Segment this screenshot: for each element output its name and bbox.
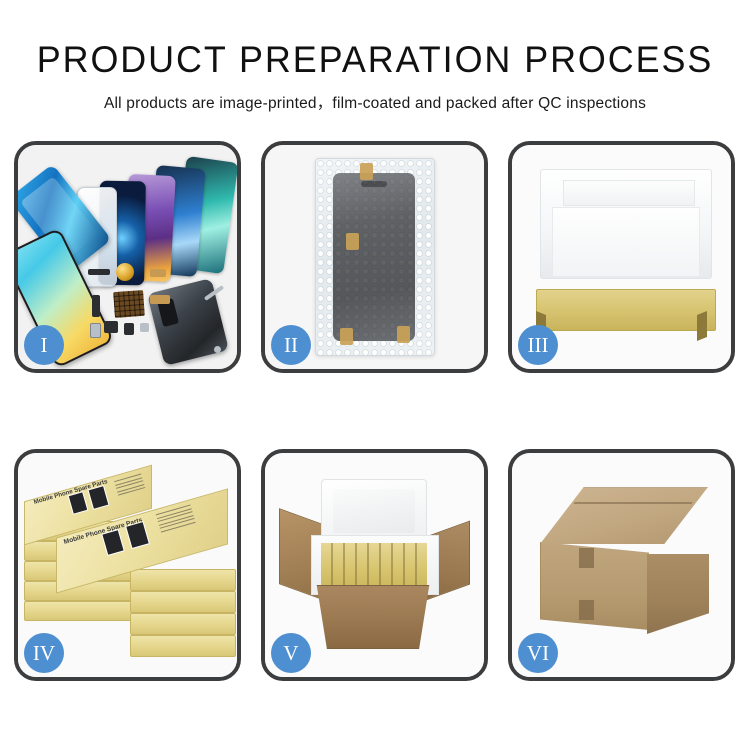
carton-front-face: [540, 542, 649, 630]
carton-tape-lower: [579, 600, 594, 620]
small-part-3: [92, 295, 100, 317]
small-part-8: [90, 323, 101, 338]
stack-box-r4: [130, 635, 236, 657]
process-panel-2[interactable]: II: [261, 141, 488, 373]
panel-3-step-badge: III: [518, 325, 558, 365]
tape-tab-bottom-right: [397, 326, 410, 343]
process-panel-4[interactable]: Mobile Phone Spare Parts Mobile Phone Sp…: [14, 449, 241, 681]
panel-2-step-badge: II: [271, 325, 311, 365]
tape-tab-top: [360, 163, 373, 180]
tape-tab-mid: [346, 233, 359, 250]
white-foam-sheet: [552, 207, 700, 277]
screw-part: [214, 346, 221, 353]
carton-body: [309, 585, 437, 649]
stack-box-r3: [130, 613, 236, 635]
tape-tab-bottom-left: [340, 328, 353, 345]
foam-lid-inner-panel: [563, 180, 695, 206]
panel-4-step-badge: IV: [24, 633, 64, 673]
process-panel-3[interactable]: III: [508, 141, 735, 373]
small-part-5: [104, 321, 118, 333]
small-part-1: [88, 269, 110, 275]
wrapped-part-inside: [333, 173, 415, 341]
small-part-7: [140, 323, 149, 332]
panel-1-step-badge: I: [24, 325, 64, 365]
page-header: PRODUCT PREPARATION PROCESS All products…: [0, 0, 750, 113]
panel-6-step-badge: VI: [518, 633, 558, 673]
process-panel-6[interactable]: VI: [508, 449, 735, 681]
yellow-box-tray: [536, 289, 716, 331]
connector-grid-chip: [113, 290, 145, 318]
yellow-boxes-inside: [321, 543, 427, 585]
page-subtitle: All products are image-printed，film-coat…: [0, 91, 750, 113]
gold-component: [116, 263, 134, 281]
sealed-carton: [530, 487, 718, 639]
carton-tape-upper: [579, 548, 594, 568]
small-part-4: [150, 295, 170, 304]
process-panel-1[interactable]: I: [14, 141, 241, 373]
small-part-2: [150, 269, 166, 277]
process-panel-5[interactable]: V: [261, 449, 488, 681]
foam-lid-open: [321, 479, 427, 543]
stack-box-l5: [24, 601, 134, 621]
carton-top-seam: [574, 502, 693, 504]
carton-top-face: [540, 487, 708, 544]
small-part-6: [124, 323, 134, 335]
stack-box-r1: [130, 569, 236, 591]
tray-corner-right: [697, 311, 707, 341]
bubble-wrap-bag: [315, 158, 435, 356]
process-panel-grid: I II III: [14, 141, 736, 681]
stack-box-r2: [130, 591, 236, 613]
carton-side-face: [647, 554, 709, 634]
panel-5-step-badge: V: [271, 633, 311, 673]
page-title: PRODUCT PREPARATION PROCESS: [11, 38, 739, 82]
